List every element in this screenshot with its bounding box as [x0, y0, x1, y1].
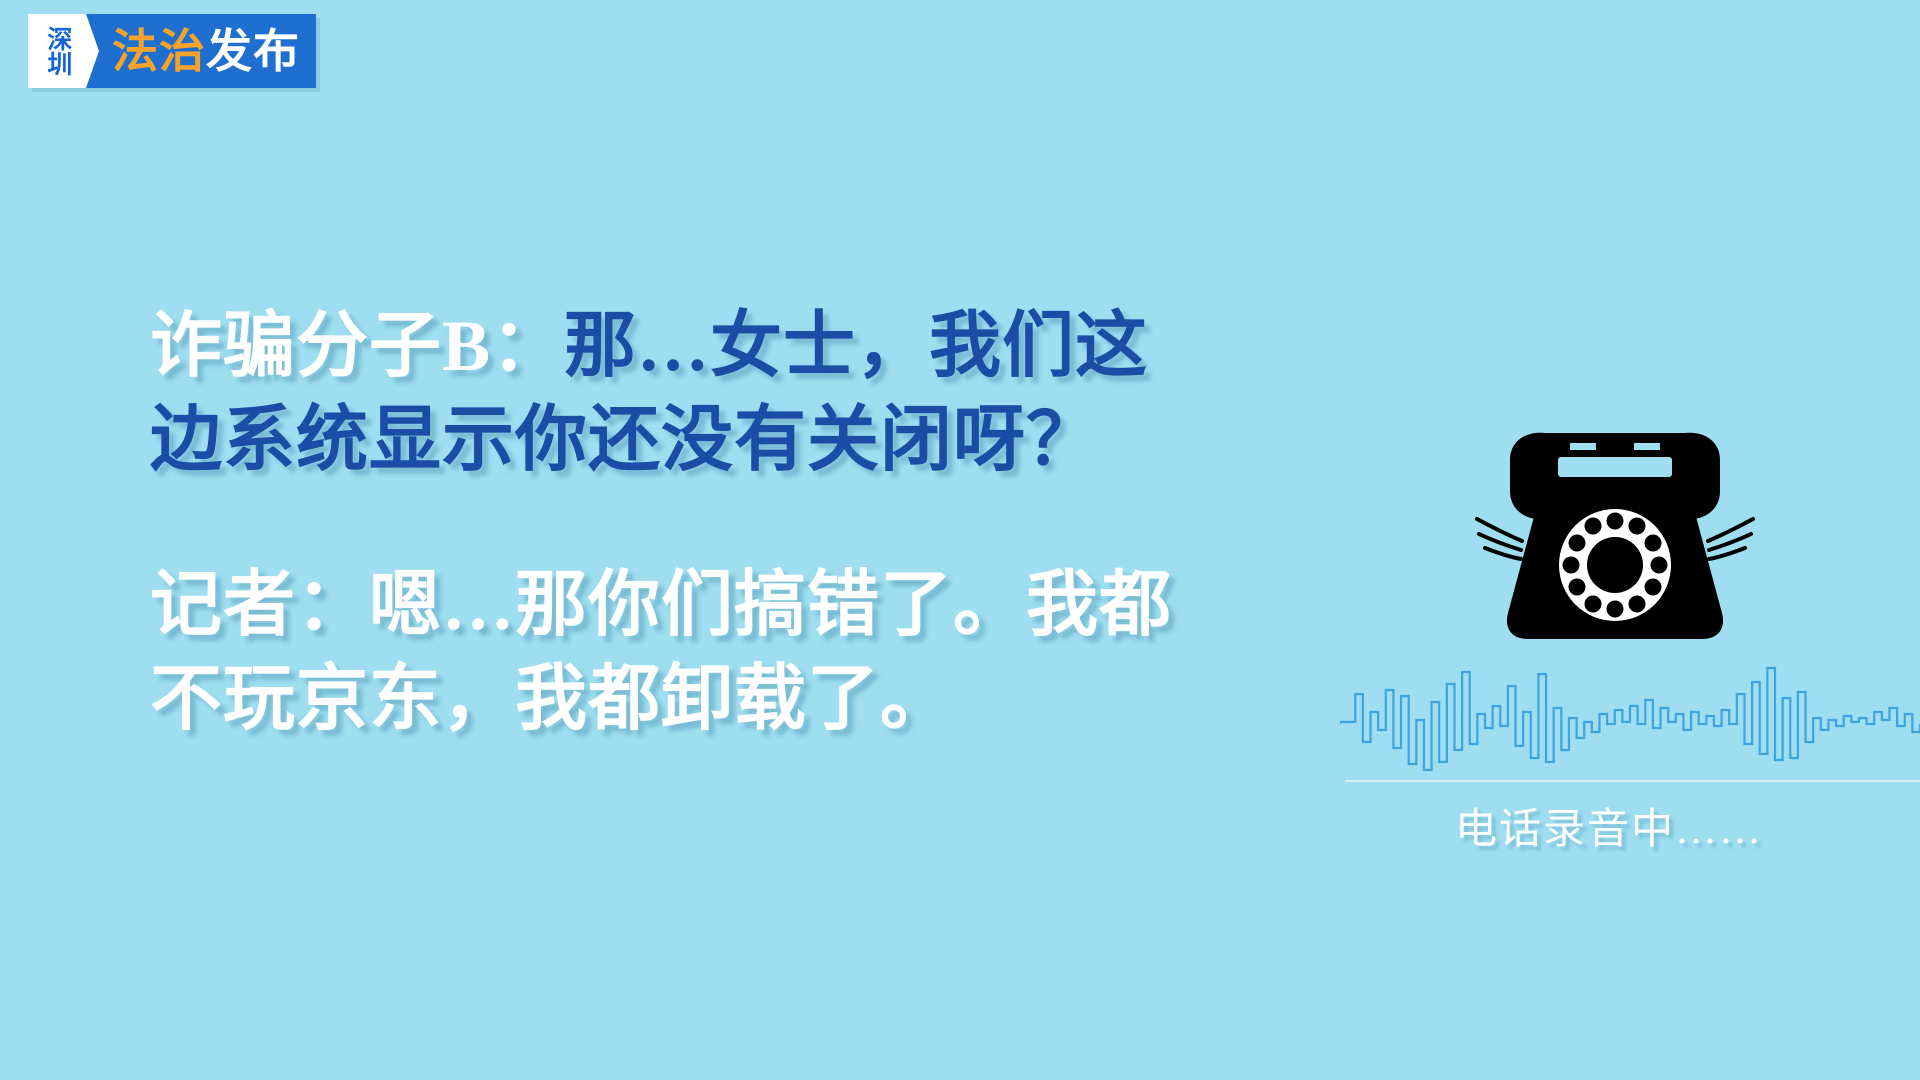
recording-caption: 电话录音中…… — [1455, 795, 1763, 856]
speech-line: 记者：嗯…那你们搞错了。我都 — [150, 559, 1370, 653]
waveform-divider — [1345, 780, 1920, 782]
speaker-label-scammer: 诈骗分子B： — [150, 306, 564, 386]
speech-block-scammer: 诈骗分子B：那…女士，我们这 边系统显示你还没有关闭呀？ — [150, 300, 1370, 487]
speech-text: 边系统显示你还没有关闭呀？ — [150, 400, 1099, 480]
speech-line: 不玩京东，我都卸载了。 — [150, 653, 1370, 747]
logo-city-badge: 深圳 — [28, 14, 86, 88]
speaker-label-reporter: 记者： — [150, 565, 369, 645]
rotary-telephone-icon — [1450, 415, 1780, 660]
speech-block-reporter: 记者：嗯…那你们搞错了。我都 不玩京东，我都卸载了。 — [150, 559, 1370, 746]
speech-text: 不玩京东，我都卸载了。 — [150, 659, 953, 739]
logo-city-label: 深圳 — [45, 21, 69, 81]
logo-word-fabu: 发布 — [206, 28, 300, 74]
slide-canvas: 深圳 法治 发布 诈骗分子B：那…女士，我们这 边系统显示你还没有关闭呀？ 记者… — [0, 0, 1920, 1080]
speech-text: 嗯…那你们搞错了。我都 — [369, 565, 1172, 645]
speech-line: 诈骗分子B：那…女士，我们这 — [150, 300, 1370, 394]
audio-waveform-icon — [1340, 660, 1920, 788]
brand-logo: 深圳 法治 发布 — [28, 14, 316, 88]
logo-title-box: 法治 发布 — [86, 14, 316, 88]
dialogue-container: 诈骗分子B：那…女士，我们这 边系统显示你还没有关闭呀？ 记者：嗯…那你们搞错了… — [150, 300, 1370, 746]
speech-line: 边系统显示你还没有关闭呀？ — [150, 394, 1370, 488]
speech-text: 那…女士，我们这 — [564, 306, 1148, 386]
logo-word-fazhi: 法治 — [112, 28, 206, 74]
